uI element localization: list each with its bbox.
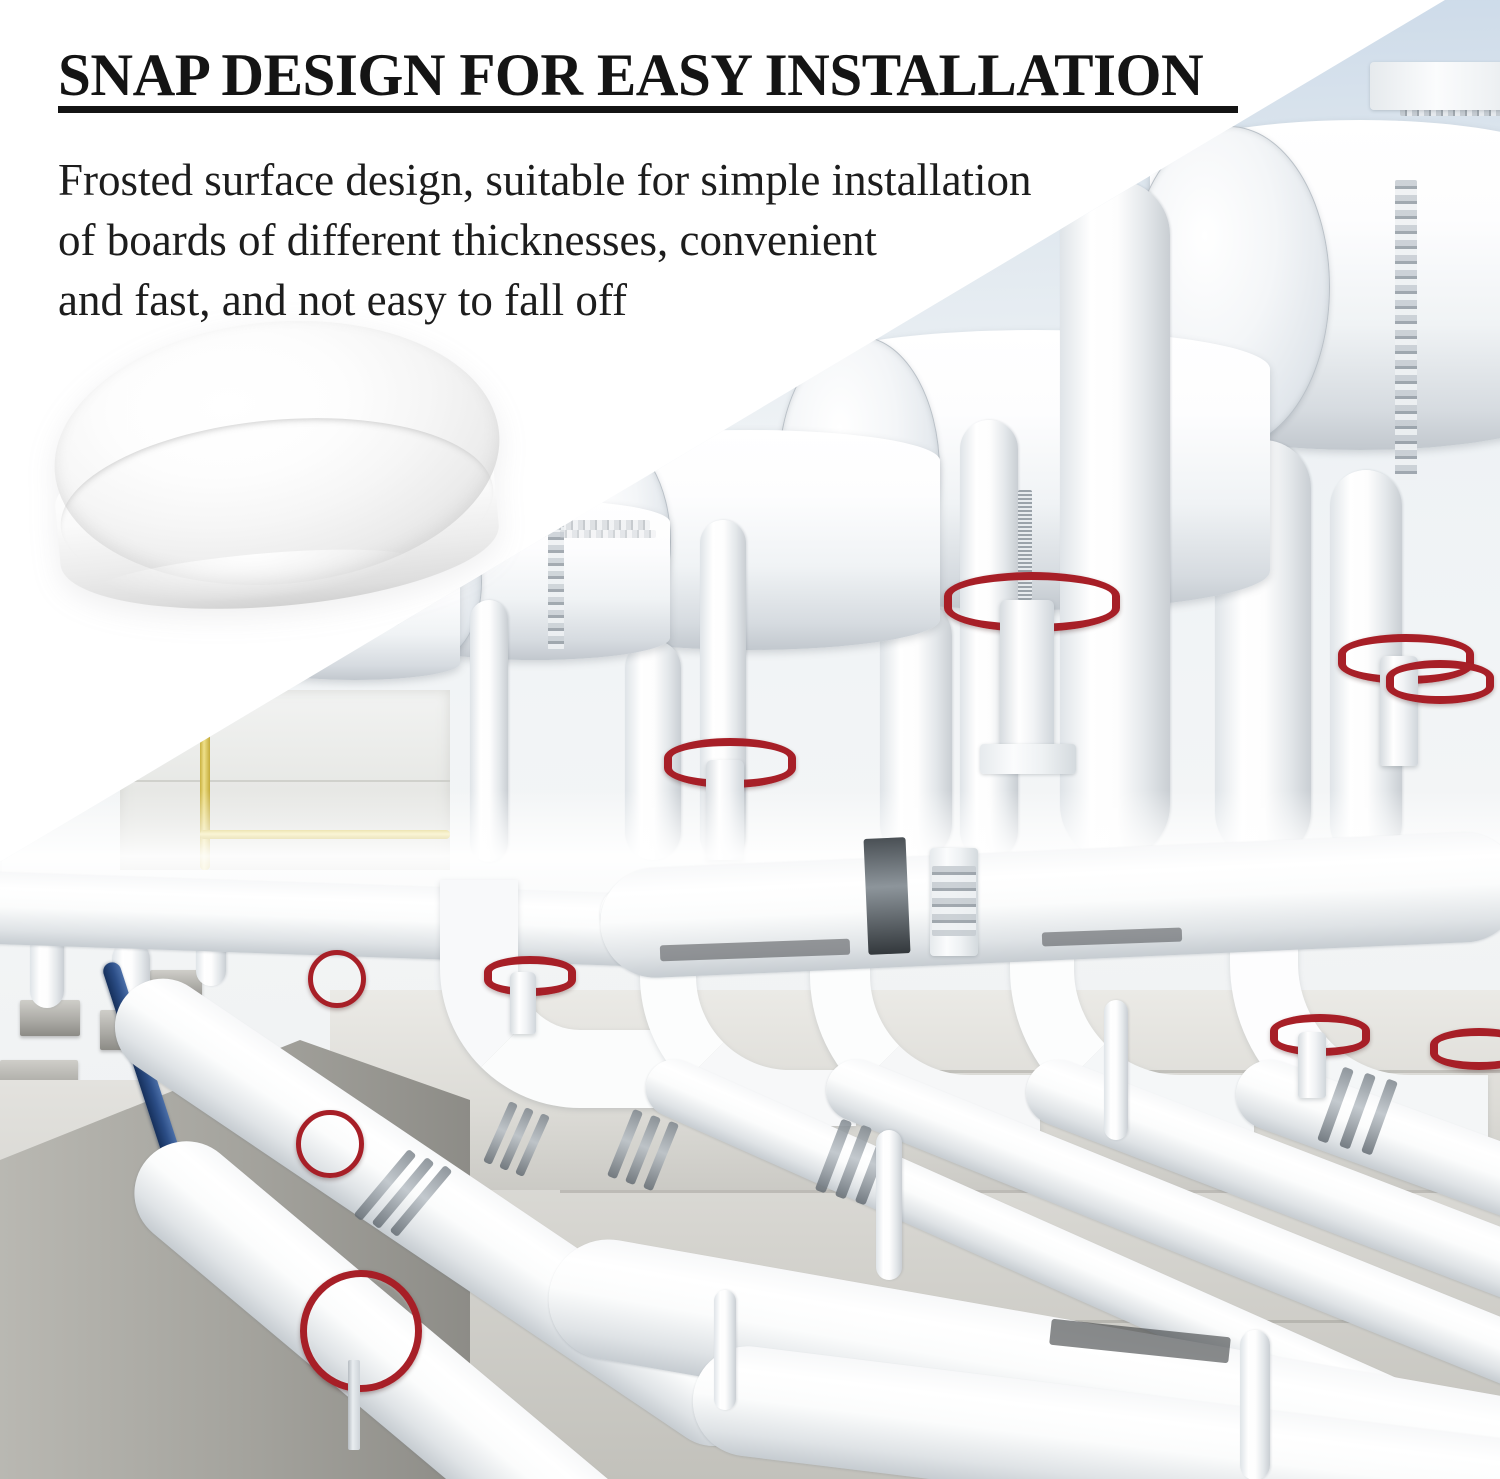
product-feature-banner: SNAP DESIGN FOR EASY INSTALLATION Froste… [0,0,1500,1479]
storage-tank-seam [120,780,450,782]
header-pipe-dark-band [863,837,910,955]
gate-valve-body-secondary [706,760,744,860]
lower-valve-handwheel-left [300,1270,422,1392]
description-line-2: of boards of different thicknesses, conv… [58,210,1148,270]
gate-valve-body-main [1000,600,1054,750]
lower-valve-handwheel-mid [296,1110,364,1178]
page-title: SNAP DESIGN FOR EASY INSTALLATION [58,44,1230,106]
vessel-top-flange-right [1370,62,1500,110]
gate-valve-flange-main [980,744,1076,774]
title-underline-rule [58,106,1238,113]
white-round-snap-cap [52,316,512,668]
valve-handwheel-far-right [1386,660,1494,704]
access-stair-grating [530,520,650,530]
deck-pipe-stub-1 [876,1130,902,1280]
handrail-frame-mid [560,530,656,538]
lower-valve-handwheel-upper [308,950,366,1008]
lower-valve-stem-left [348,1360,360,1450]
description-line-1: Frosted surface design, suitable for sim… [58,150,1148,210]
expansion-joint-mid [548,480,564,650]
deck-pipe-stub-3 [714,1290,736,1410]
description-text: Frosted surface design, suitable for sim… [58,150,1148,330]
deck-pipe-stub-4 [1240,1330,1270,1479]
rack-valve-body-a [510,972,536,1034]
header-pipe-bolt-row [932,866,976,936]
deck-pipe-stub-2 [1104,1000,1128,1140]
rack-valve-body-b [1298,1032,1326,1098]
expansion-joint-right [1395,180,1417,480]
yellow-pipe-left [200,700,210,870]
rack-valve-handwheel-c [1430,1028,1500,1070]
yellow-pipe-horizontal [200,830,450,839]
